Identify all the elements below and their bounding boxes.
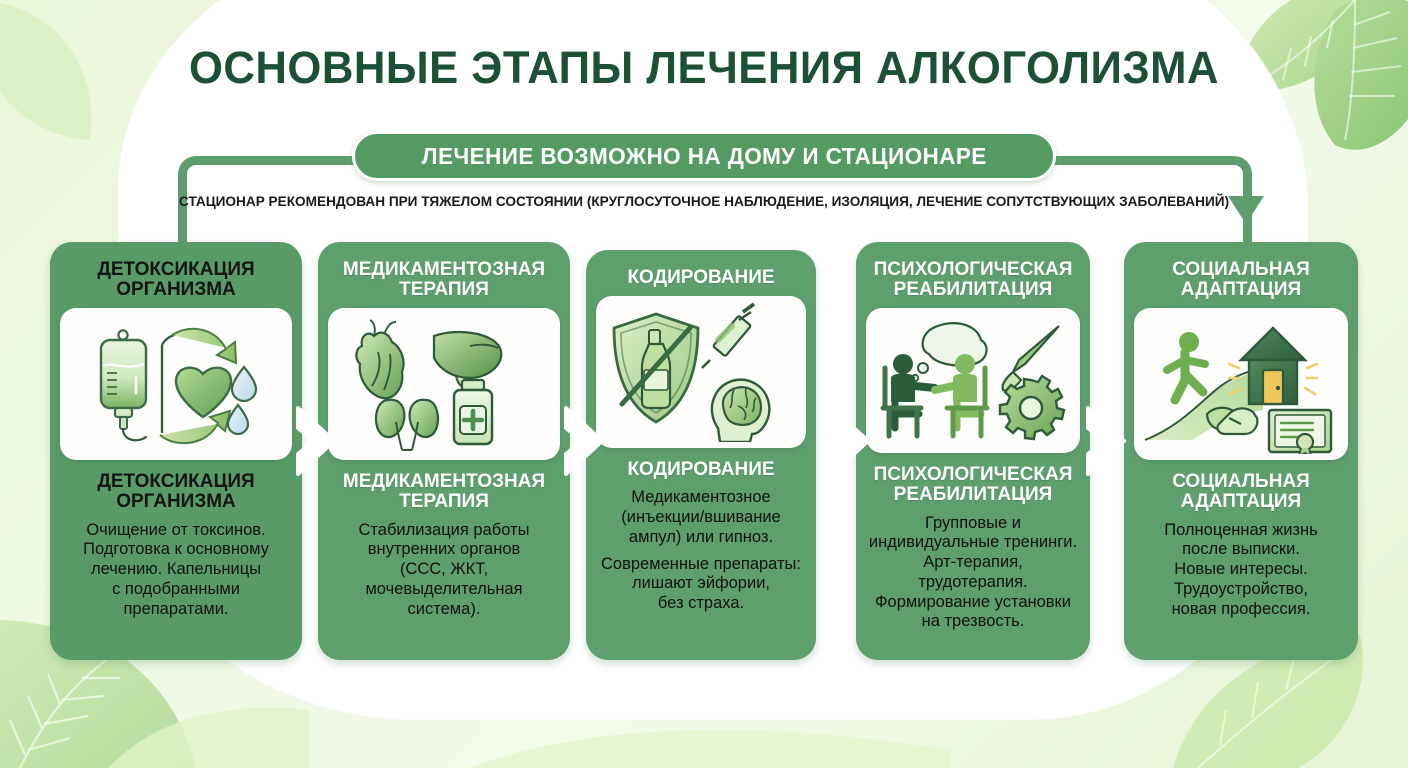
stage-icon-panel xyxy=(328,308,560,460)
stage-icon-panel xyxy=(60,308,292,460)
stage-bottom-title: ДЕТОКСИКАЦИЯ ОРГАНИЗМА xyxy=(97,472,254,512)
flow-arrow-3-icon xyxy=(826,404,872,478)
stage-description: Стабилизация работы внутренних органов (… xyxy=(359,521,530,620)
hospital-recommendation-note: СТАЦИОНАР РЕКОМЕНДОВАН ПРИ ТЯЖЕЛОМ СОСТО… xyxy=(28,194,1380,210)
flow-arrow-4-icon xyxy=(1082,404,1128,478)
flow-arrow-1-icon xyxy=(292,404,338,478)
stages-row: ДЕТОКСИКАЦИЯ ОРГАНИЗМА xyxy=(0,0,1408,768)
organs-heart-liver-kidneys-medicine-icon xyxy=(344,314,544,454)
stage-card-psychological-rehab[interactable]: ПСИХОЛОГИЧЕСКАЯ РЕАБИЛИТАЦИЯ xyxy=(856,242,1090,660)
stage-bottom-title: МЕДИКАМЕНТОЗНАЯ ТЕРАПИЯ xyxy=(343,472,545,512)
stage-card-drug-therapy[interactable]: МЕДИКАМЕНТОЗНАЯ ТЕРАПИЯ xyxy=(318,242,570,660)
stage-top-title: МЕДИКАМЕНТОЗНАЯ ТЕРАПИЯ xyxy=(343,260,545,300)
flow-arrow-2-icon xyxy=(560,404,606,478)
stage-description: Очищение от токсинов. Подготовка к основ… xyxy=(83,521,269,620)
stage-description: Полноценная жизнь после выписки. Новые и… xyxy=(1164,521,1317,620)
iv-drip-heart-droplets-icon xyxy=(76,319,276,449)
stage-icon-panel xyxy=(1134,308,1348,460)
stage-card-coding[interactable]: КОДИРОВАНИЕ xyxy=(586,250,816,660)
stage-top-title: СОЦИАЛЬНАЯ АДАПТАЦИЯ xyxy=(1172,260,1310,300)
treatment-location-banner: ЛЕЧЕНИЕ ВОЗМОЖНО НА ДОМУ И СТАЦИОНАРЕ xyxy=(352,131,1056,181)
stage-icon-panel xyxy=(596,296,806,448)
stage-card-social-adaptation[interactable]: СОЦИАЛЬНАЯ АДАПТАЦИЯ xyxy=(1124,242,1358,660)
shield-no-alcohol-syringe-brain-icon xyxy=(606,302,796,442)
stage-description: Медикаментозное (инъекции/вшивание ампул… xyxy=(621,488,780,547)
therapy-session-brush-gear-icon xyxy=(873,316,1073,446)
stage-icon-panel xyxy=(866,308,1080,453)
stage-top-title: КОДИРОВАНИЕ xyxy=(627,268,774,288)
stage-top-title: ДЕТОКСИКАЦИЯ ОРГАНИЗМА xyxy=(97,260,254,300)
stage-description: Групповые и индивидуальные тренинги. Арт… xyxy=(869,514,1077,633)
infographic-stage: ОСНОВНЫЕ ЭТАПЫ ЛЕЧЕНИЯ АЛКОГОЛИЗМА ЛЕЧЕН… xyxy=(0,0,1408,768)
stage-bottom-title: ПСИХОЛОГИЧЕСКАЯ РЕАБИЛИТАЦИЯ xyxy=(874,465,1073,505)
stage-bottom-title: СОЦИАЛЬНАЯ АДАПТАЦИЯ xyxy=(1172,472,1310,512)
stage-description-secondary: Современные препараты: лишают эйфории, б… xyxy=(601,555,801,614)
stage-top-title: ПСИХОЛОГИЧЕСКАЯ РЕАБИЛИТАЦИЯ xyxy=(874,260,1073,300)
banner-label: ЛЕЧЕНИЕ ВОЗМОЖНО НА ДОМУ И СТАЦИОНАРЕ xyxy=(422,143,987,170)
person-house-handshake-certificate-icon xyxy=(1141,314,1341,454)
stage-card-detoxification[interactable]: ДЕТОКСИКАЦИЯ ОРГАНИЗМА xyxy=(50,242,302,660)
stage-bottom-title: КОДИРОВАНИЕ xyxy=(627,460,774,480)
